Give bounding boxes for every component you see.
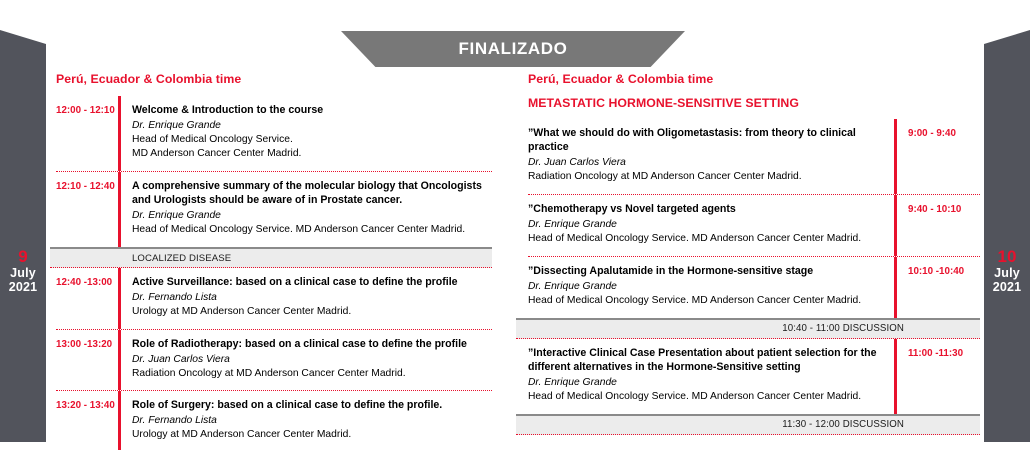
day1-session-list: 12:00 - 12:10 Welcome & Introduction to … [56, 96, 492, 247]
day2-date-year: 2021 [984, 280, 1030, 294]
session-row: ”Chemotherapy vs Novel targeted agents D… [528, 194, 980, 256]
session-speaker: Dr. Enrique Grande [528, 280, 884, 294]
session-title: ”What we should do with Oligometastasis:… [528, 126, 884, 154]
session-affiliation-line2: MD Anderson Cancer Center Madrid. [132, 147, 492, 161]
day2-date-month: July [984, 266, 1030, 280]
session-speaker: Dr. Enrique Grande [132, 209, 492, 223]
session-row: ”Dissecting Apalutamide in the Hormone-s… [528, 256, 980, 318]
session-row: 12:10 - 12:40 A comprehensive summary of… [56, 171, 492, 247]
session-time: 9:40 - 10:10 [908, 195, 980, 256]
session-title: Role of Radiotherapy: based on a clinica… [132, 337, 492, 351]
day2-date-day: 10 [984, 247, 1030, 266]
session-body: Welcome & Introduction to the course Dr.… [132, 96, 492, 171]
session-affiliation-line1: Radiation Oncology at MD Anderson Cancer… [528, 170, 884, 184]
session-rule [894, 195, 897, 256]
session-title: ”Chemotherapy vs Novel targeted agents [528, 202, 884, 216]
session-row: 13:00 -13:20 Role of Radiotherapy: based… [56, 329, 492, 391]
session-time: 10:10 -10:40 [908, 257, 980, 318]
session-body: Role of Radiotherapy: based on a clinica… [132, 330, 492, 391]
session-row: 13:20 - 13:40 Role of Surgery: based on … [56, 390, 492, 450]
session-rule [118, 96, 121, 171]
day1-date-month: July [0, 266, 46, 280]
session-title: Role of Surgery: based on a clinical cas… [132, 398, 492, 412]
session-speaker: Dr. Juan Carlos Viera [528, 156, 884, 170]
session-rule [118, 391, 121, 450]
session-speaker: Dr. Enrique Grande [528, 218, 884, 232]
day1-section-band-label: LOCALIZED DISEASE [132, 253, 231, 264]
day2-timezone-heading: Perú, Ecuador & Colombia time [528, 72, 980, 86]
day2-section-heading: METASTATIC HORMONE-SENSITIVE SETTING [528, 96, 980, 110]
session-speaker: Dr. Juan Carlos Viera [132, 353, 492, 367]
session-affiliation-line1: Head of Medical Oncology Service. MD And… [528, 294, 884, 308]
session-time: 9:00 - 9:40 [908, 119, 980, 194]
session-row: ”Interactive Clinical Case Presentation … [528, 339, 980, 414]
session-body: A comprehensive summary of the molecular… [132, 172, 492, 247]
session-body: ”Chemotherapy vs Novel targeted agents D… [528, 195, 894, 256]
session-body: ”Interactive Clinical Case Presentation … [528, 339, 894, 414]
session-row: 12:00 - 12:10 Welcome & Introduction to … [56, 96, 492, 171]
session-speaker: Dr. Fernando Lista [132, 291, 492, 305]
day2-pillar [984, 30, 1030, 442]
session-body: ”What we should do with Oligometastasis:… [528, 119, 894, 194]
status-banner: FINALIZADO [341, 31, 685, 67]
session-rule [118, 172, 121, 247]
day2-session-list: ”What we should do with Oligometastasis:… [528, 119, 980, 318]
session-time: 12:10 - 12:40 [56, 172, 118, 247]
session-time: 12:40 -13:00 [56, 268, 118, 329]
day1-date-day: 9 [0, 247, 46, 266]
session-time: 13:00 -13:20 [56, 330, 118, 391]
session-time: 11:00 -11:30 [908, 339, 980, 414]
day2-session-list-2: ”Interactive Clinical Case Presentation … [528, 339, 980, 414]
session-rule [118, 330, 121, 391]
session-affiliation-line1: Head of Medical Oncology Service. MD And… [528, 232, 884, 246]
session-row: 12:40 -13:00 Active Surveillance: based … [56, 268, 492, 329]
agenda-poster: 9 July 2021 10 July 2021 FINALIZADO Perú… [0, 0, 1030, 450]
session-affiliation-line1: Head of Medical Oncology Service. MD And… [528, 390, 884, 404]
session-time: 13:20 - 13:40 [56, 391, 118, 450]
session-affiliation-line1: Radiation Oncology at MD Anderson Cancer… [132, 367, 492, 381]
session-body: Role of Surgery: based on a clinical cas… [132, 391, 492, 450]
day2-panel: Perú, Ecuador & Colombia time METASTATIC… [528, 72, 980, 435]
day1-date-block: 9 July 2021 [0, 247, 46, 294]
session-rule [894, 257, 897, 318]
discussion-band-1-label: 10:40 - 11:00 DISCUSSION [782, 323, 904, 334]
session-body: ”Dissecting Apalutamide in the Hormone-s… [528, 257, 894, 318]
discussion-band-2: 11:30 - 12:00 DISCUSSION [516, 414, 980, 435]
session-speaker: Dr. Fernando Lista [132, 414, 492, 428]
discussion-band-1: 10:40 - 11:00 DISCUSSION [516, 318, 980, 339]
session-title: A comprehensive summary of the molecular… [132, 179, 492, 207]
session-affiliation-line1: Head of Medical Oncology Service. [132, 133, 492, 147]
day1-pillar [0, 30, 46, 442]
band-rule [118, 249, 121, 267]
session-title: Welcome & Introduction to the course [132, 103, 492, 117]
session-affiliation-line1: Urology at MD Anderson Cancer Center Mad… [132, 305, 492, 319]
session-time: 12:00 - 12:10 [56, 96, 118, 171]
session-title: ”Dissecting Apalutamide in the Hormone-s… [528, 264, 884, 278]
session-rule [118, 268, 121, 329]
session-rule [894, 339, 897, 414]
session-speaker: Dr. Enrique Grande [528, 376, 884, 390]
session-title: Active Surveillance: based on a clinical… [132, 275, 492, 289]
session-rule [894, 119, 897, 194]
session-affiliation-line1: Urology at MD Anderson Cancer Center Mad… [132, 428, 492, 442]
day1-session-list-2: 12:40 -13:00 Active Surveillance: based … [56, 268, 492, 450]
discussion-band-2-label: 11:30 - 12:00 DISCUSSION [782, 419, 904, 430]
session-affiliation-line1: Head of Medical Oncology Service. MD And… [132, 223, 492, 237]
day1-timezone-heading: Perú, Ecuador & Colombia time [56, 72, 492, 86]
day1-panel: Perú, Ecuador & Colombia time 12:00 - 12… [56, 72, 492, 450]
session-title: ”Interactive Clinical Case Presentation … [528, 346, 884, 374]
session-body: Active Surveillance: based on a clinical… [132, 268, 492, 329]
day1-date-year: 2021 [0, 280, 46, 294]
day2-date-block: 10 July 2021 [984, 247, 1030, 294]
status-banner-label: FINALIZADO [459, 39, 568, 59]
day1-section-band: LOCALIZED DISEASE [50, 247, 492, 268]
session-row: ”What we should do with Oligometastasis:… [528, 119, 980, 194]
session-speaker: Dr. Enrique Grande [132, 119, 492, 133]
